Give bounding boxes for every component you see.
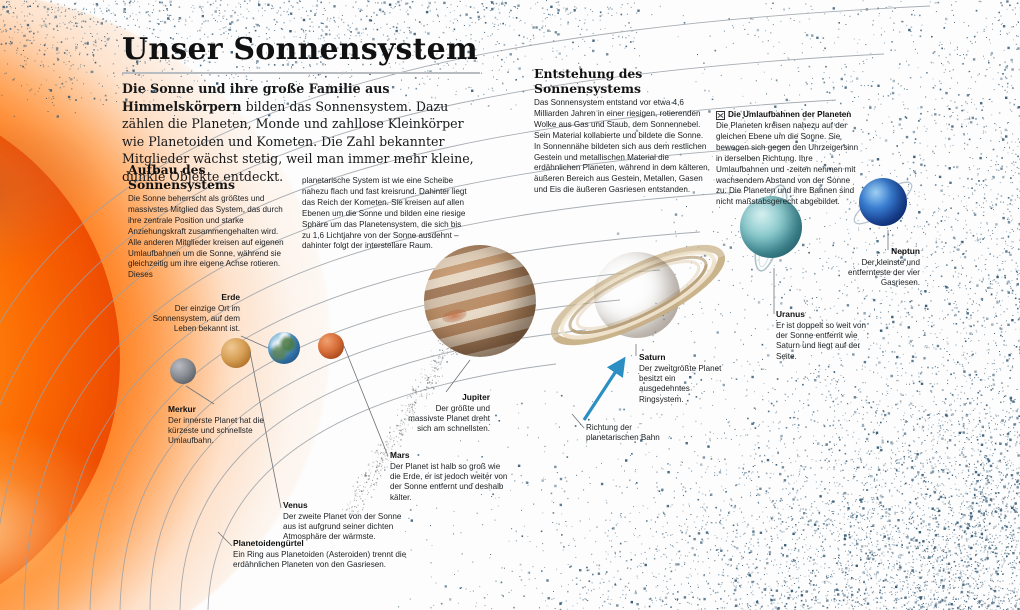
section-aufbau-col2: planetarische System ist wie eine Scheib… [302,176,470,252]
callout-jupiter-name: Jupiter [398,392,490,403]
callout-mars-desc: Der Planet ist halb so groß wie die Erde… [390,462,508,504]
callout-planetoidenguertel: Planetoidengürtel Ein Ring aus Planetoid… [233,538,448,570]
callout-merkur: Merkur Der innerste Planet hat die kürze… [168,404,272,447]
callout-erde-desc: Der einzige Ort im Sonnensystem, auf dem… [136,304,240,335]
callout-planetoidenguertel-name: Planetoidengürtel [233,538,448,549]
callout-uranus-desc: Er ist doppelt so weit von der Sonne ent… [776,321,868,363]
section-aufbau-title: Aufbau des Sonnensystems [128,162,288,192]
callout-jupiter-desc: Der größte und massivste Planet dreht si… [398,404,490,435]
section-aufbau-col2-wrap: planetarische System ist wie eine Scheib… [302,176,470,252]
callout-merkur-name: Merkur [168,404,272,415]
callout-mars: Mars Der Planet ist halb so groß wie die… [390,450,508,503]
section-umlaufbahnen-body: Die Planeten kreisen nahezu auf der glei… [716,121,862,208]
section-entstehung-title: Entstehung des Sonnensystems [534,66,712,96]
callout-merkur-desc: Der innerste Planet hat die kürzeste und… [168,416,272,447]
callout-neptun: Neptun Der kleinste und entfernteste der… [826,246,920,289]
section-entstehung-body: Das Sonnensystem entstand vor etwa 4,6 M… [534,98,712,196]
callout-saturn: Saturn Der zweitgrößte Planet besitzt ei… [639,352,725,405]
callout-venus: Venus Der zweite Planet von der Sonne au… [283,500,413,543]
callout-erde: Erde Der einzige Ort im Sonnensystem, au… [136,292,240,335]
infographic-canvas: Unser Sonnensystem Die Sonne und ihre gr… [0,0,1020,610]
callout-richtung-desc: Richtung der planetarischen Bahn [586,423,664,444]
callout-jupiter: Jupiter Der größte und massivste Planet … [398,392,490,435]
callout-richtung: Richtung der planetarischen Bahn [586,423,664,444]
callout-mars-name: Mars [390,450,508,461]
section-umlaufbahnen-title: Die Umlaufbahnen der Planeten [728,110,851,120]
callout-saturn-name: Saturn [639,352,725,363]
callout-neptun-name: Neptun [826,246,920,257]
callout-erde-name: Erde [136,292,240,303]
page-title: Unser Sonnensystem [122,32,478,67]
callout-saturn-desc: Der zweitgrößte Planet besitzt ein ausge… [639,364,725,406]
callout-uranus-name: Uranus [776,309,868,320]
callout-uranus: Uranus Er ist doppelt so weit von der So… [776,309,868,362]
section-umlaufbahnen: Die Umlaufbahnen der Planeten Die Planet… [716,110,862,208]
section-aufbau: Aufbau des Sonnensystems Die Sonne beher… [128,162,288,281]
orbit-box-icon [716,111,725,120]
section-entstehung: Entstehung des Sonnensystems Das Sonnens… [534,66,712,196]
callout-planetoidenguertel-desc: Ein Ring aus Planetoiden (Asteroiden) tr… [233,550,448,571]
section-aufbau-col1: Die Sonne beherrscht als größtes und mas… [128,194,288,281]
callout-neptun-desc: Der kleinste und entfernteste der vier G… [826,258,920,289]
section-umlaufbahnen-header: Die Umlaufbahnen der Planeten [716,110,862,120]
title-divider [122,72,480,74]
